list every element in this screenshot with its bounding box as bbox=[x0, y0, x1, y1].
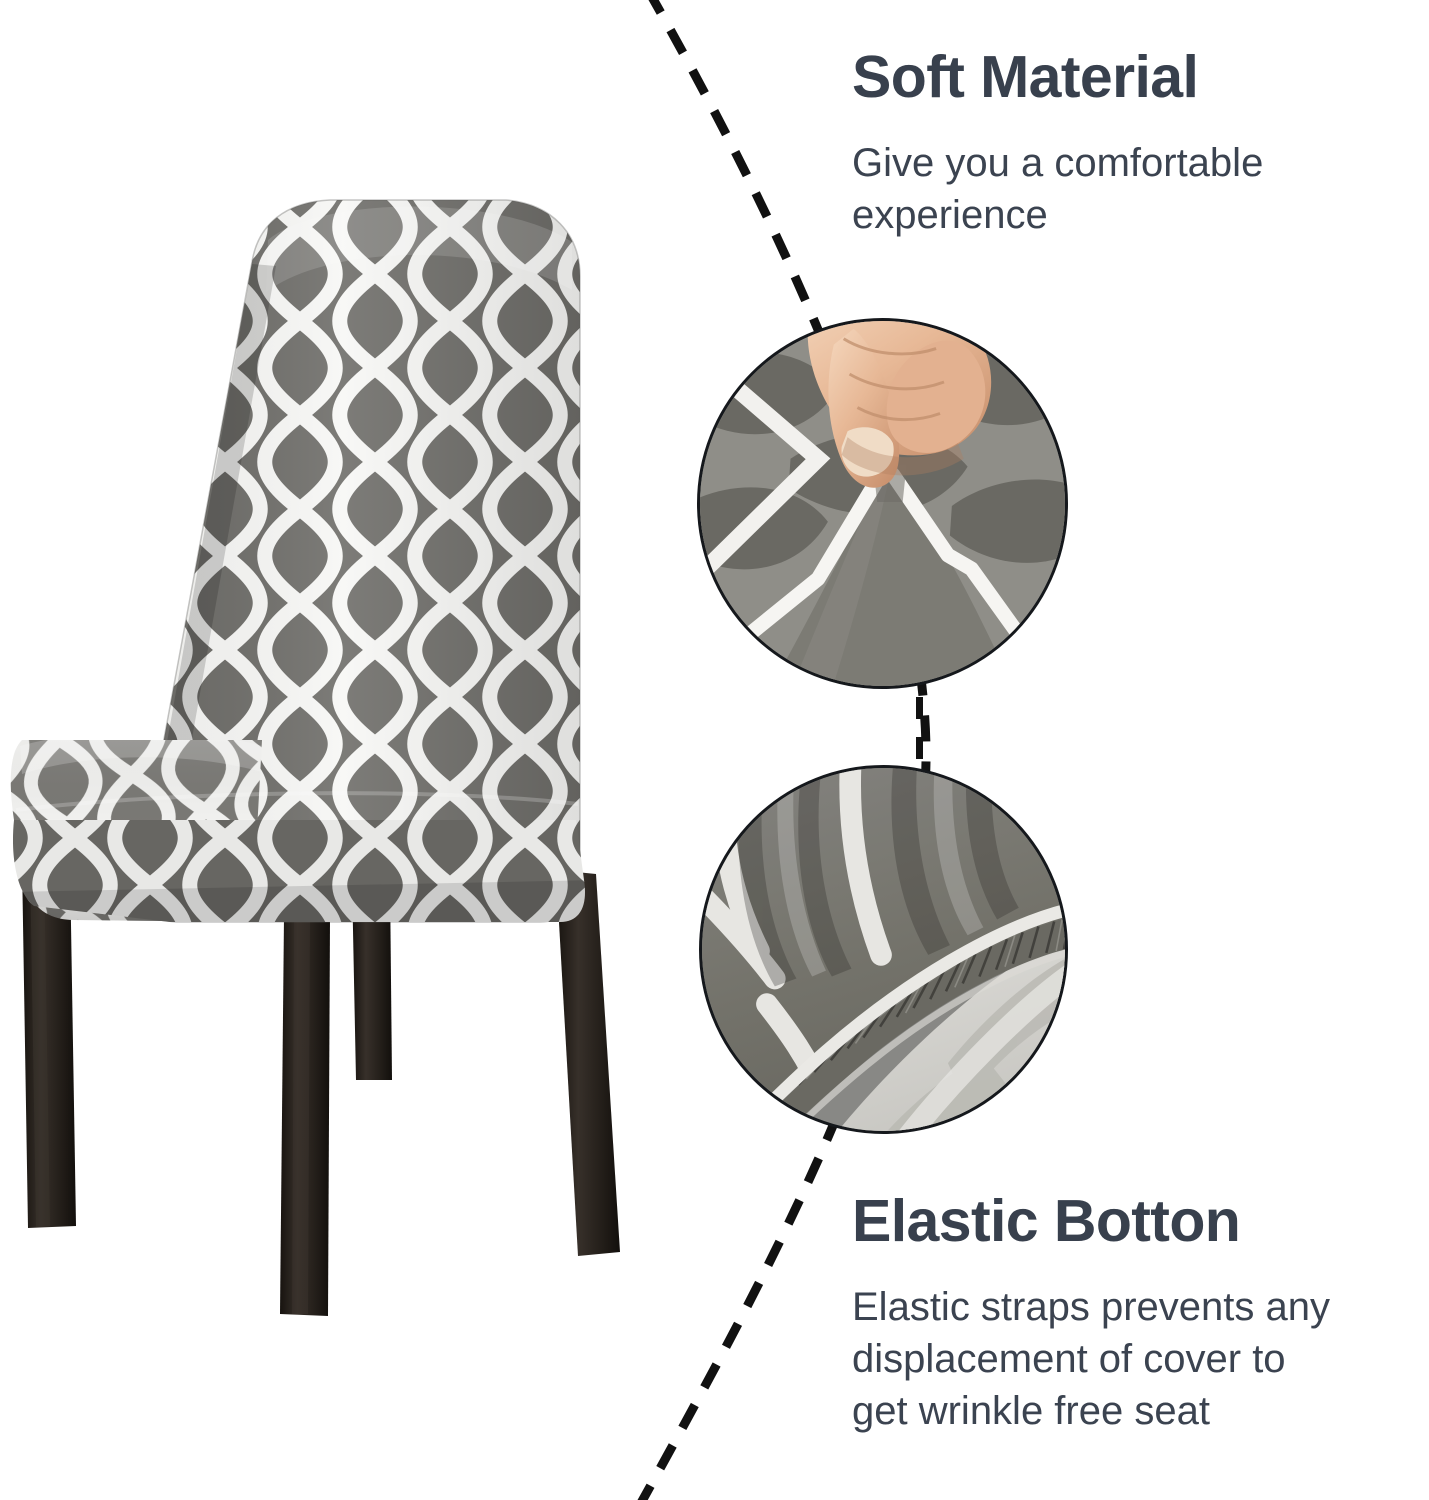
feature-description-soft-material: Give you a comfortable experience bbox=[852, 137, 1418, 241]
feature-desc-line: displacement of cover to bbox=[852, 1333, 1418, 1385]
feature-desc-line: experience bbox=[852, 189, 1418, 241]
feature-desc-line: Elastic straps prevents any bbox=[852, 1281, 1418, 1333]
hand-pinching-fabric-icon bbox=[700, 321, 1065, 686]
product-infographic: Soft Material Give you a comfortable exp… bbox=[0, 0, 1429, 1500]
chair-leg-back-right bbox=[556, 870, 620, 1256]
feature-title-elastic-botton: Elastic Botton bbox=[852, 1190, 1418, 1253]
feature-desc-line: get wrinkle free seat bbox=[852, 1385, 1418, 1437]
product-photo-chair bbox=[0, 180, 660, 1340]
callout-connector-dashes bbox=[916, 697, 923, 759]
detail-callout-soft-material bbox=[697, 318, 1068, 689]
feature-description-elastic-botton: Elastic straps prevents any displacement… bbox=[852, 1281, 1418, 1437]
feature-title-soft-material: Soft Material bbox=[852, 46, 1418, 109]
feature-desc-line: Give you a comfortable bbox=[852, 137, 1418, 189]
feature-block-elastic-botton: Elastic Botton Elastic straps prevents a… bbox=[852, 1190, 1418, 1437]
detail-callout-elastic-botton bbox=[699, 765, 1068, 1134]
chair-leg-front-center bbox=[280, 916, 330, 1316]
elastic-band-hem-icon bbox=[702, 768, 1065, 1131]
feature-block-soft-material: Soft Material Give you a comfortable exp… bbox=[852, 46, 1418, 241]
